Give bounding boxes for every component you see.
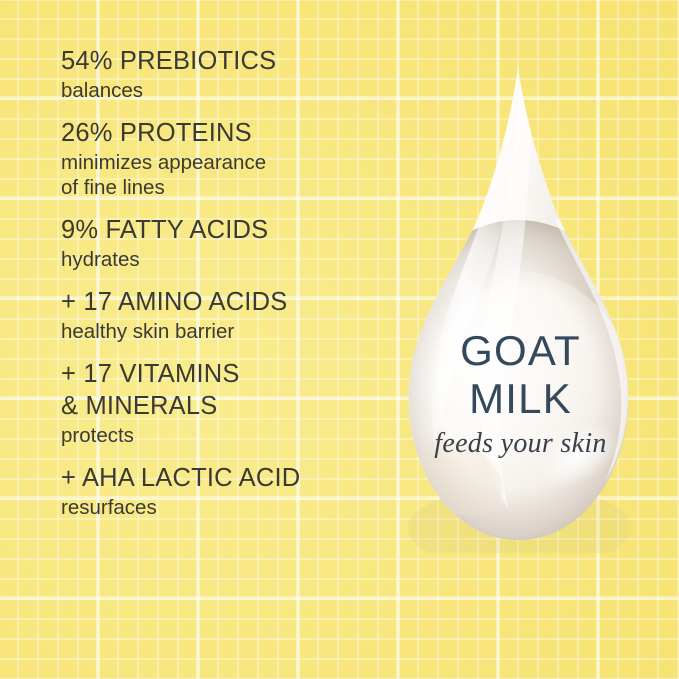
benefit-description: minimizes appearance of fine lines — [61, 150, 391, 200]
benefit-headline: 26% PROTEINS — [61, 118, 391, 149]
benefit-item-aha-lactic-acid: + AHA LACTIC ACID resurfaces — [61, 463, 391, 520]
benefit-headline: 54% PREBIOTICS — [61, 46, 391, 77]
benefit-item-proteins: 26% PROTEINS minimizes appearance of fin… — [61, 118, 391, 200]
benefit-description: healthy skin barrier — [61, 319, 391, 344]
benefits-list: 54% PREBIOTICS balances 26% PROTEINS min… — [61, 46, 391, 520]
benefit-headline: 9% FATTY ACIDS — [61, 215, 391, 246]
benefit-item-vitamins-minerals: + 17 VITAMINS & MINERALS protects — [61, 359, 391, 447]
benefit-headline: + AHA LACTIC ACID — [61, 463, 391, 494]
benefit-description: balances — [61, 78, 391, 103]
milk-droplet-graphic: GOAT MILK feeds your skin — [383, 58, 658, 553]
milk-droplet-icon — [383, 58, 658, 553]
benefit-description: hydrates — [61, 247, 391, 272]
benefit-headline: + 17 VITAMINS & MINERALS — [61, 359, 391, 421]
benefit-description: resurfaces — [61, 495, 391, 520]
product-benefits-poster: 54% PREBIOTICS balances 26% PROTEINS min… — [0, 0, 679, 679]
benefit-item-prebiotics: 54% PREBIOTICS balances — [61, 46, 391, 103]
benefit-headline: + 17 AMINO ACIDS — [61, 287, 391, 318]
benefit-item-amino-acids: + 17 AMINO ACIDS healthy skin barrier — [61, 287, 391, 344]
benefit-item-fatty-acids: 9% FATTY ACIDS hydrates — [61, 215, 391, 272]
benefit-description: protects — [61, 423, 391, 448]
